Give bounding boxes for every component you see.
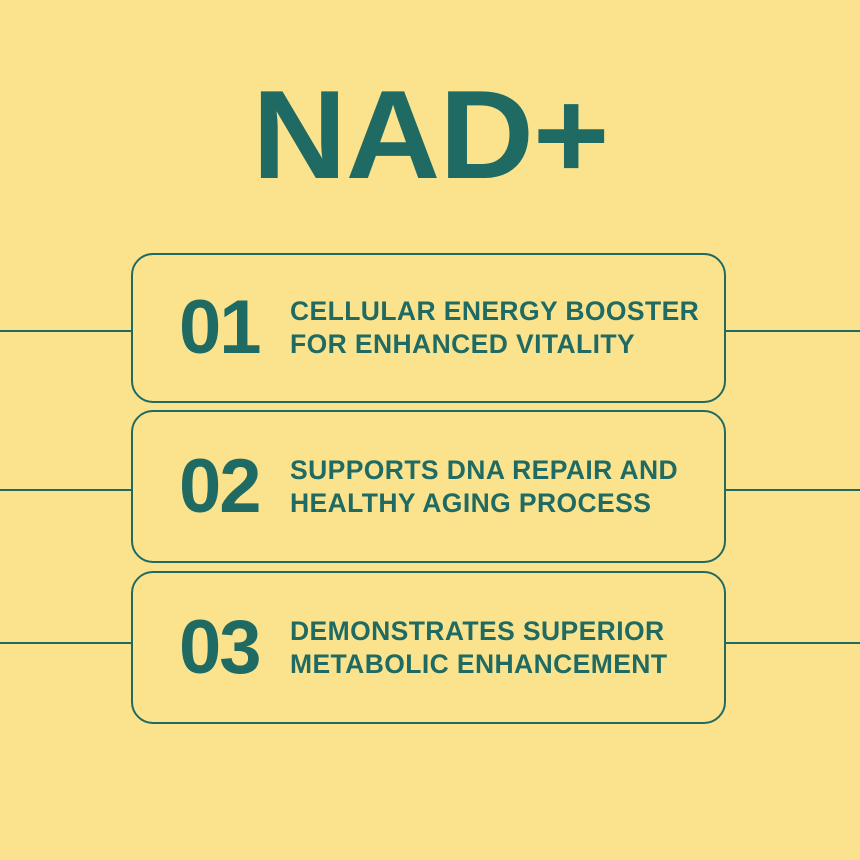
title-container: NAD+ [0,72,860,198]
card-number-3: 03 [133,610,251,686]
card-text-3: DEMONSTRATES SUPERIOR METABOLIC ENHANCEM… [251,615,724,681]
card-number-2: 02 [133,449,251,525]
connector-line-left-2 [0,489,133,491]
page-title: NAD+ [252,72,608,198]
card-number-1: 01 [133,290,251,366]
card-text-1: CELLULAR ENERGY BOOSTER FOR ENHANCED VIT… [251,295,724,361]
connector-line-right-1 [725,330,860,332]
connector-line-right-3 [725,642,860,644]
connector-line-left-1 [0,330,133,332]
card-text-2-line-2: HEALTHY AGING PROCESS [290,487,724,520]
card-list: 01 CELLULAR ENERGY BOOSTER FOR ENHANCED … [131,253,726,724]
card-text-3-line-1: DEMONSTRATES SUPERIOR [290,615,724,648]
card-text-1-line-2: FOR ENHANCED VITALITY [290,328,724,361]
benefit-card-3: 03 DEMONSTRATES SUPERIOR METABOLIC ENHAN… [131,571,726,724]
benefit-card-1: 01 CELLULAR ENERGY BOOSTER FOR ENHANCED … [131,253,726,403]
card-text-1-line-1: CELLULAR ENERGY BOOSTER [290,295,724,328]
benefit-card-2: 02 SUPPORTS DNA REPAIR AND HEALTHY AGING… [131,410,726,563]
card-text-2-line-1: SUPPORTS DNA REPAIR AND [290,454,724,487]
card-text-2: SUPPORTS DNA REPAIR AND HEALTHY AGING PR… [251,454,724,520]
card-text-3-line-2: METABOLIC ENHANCEMENT [290,648,724,681]
infographic-poster: NAD+ 01 CELLULAR ENERGY BOOSTER FOR ENHA… [0,0,860,860]
connector-line-left-3 [0,642,133,644]
connector-line-right-2 [725,489,860,491]
